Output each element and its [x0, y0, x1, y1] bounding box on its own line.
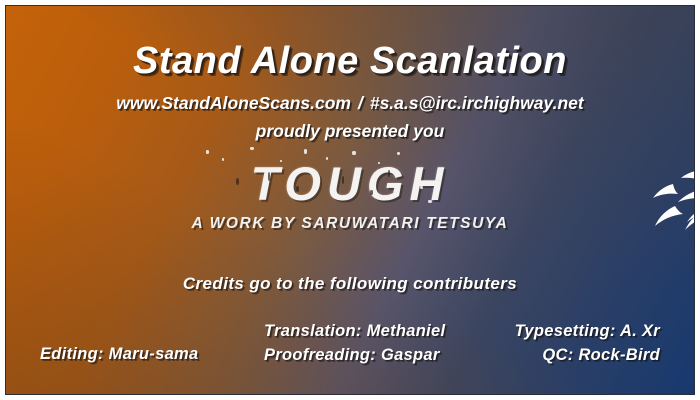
- headline-block: Stand Alone Scanlation www.StandAloneSca…: [6, 40, 694, 142]
- grunge-speck: [397, 152, 400, 155]
- group-contact-line: www.StandAloneScans.com/#s.a.s@irc.irchi…: [6, 93, 694, 114]
- grunge-speck: [250, 147, 254, 150]
- presented-by-line: proudly presented you: [6, 121, 694, 142]
- contact-separator: /: [351, 93, 370, 113]
- grunge-speck: [304, 149, 307, 154]
- tribal-wing-ornament: [647, 148, 695, 240]
- series-author: A WORK BY SARUWATARI TETSUYA: [192, 215, 509, 233]
- series-logo-row: TOUGH: [192, 156, 509, 233]
- grunge-speck: [352, 151, 356, 155]
- irc-channel: #s.a.s@irc.irchighway.net: [370, 93, 584, 113]
- credits-heading: Credits go to the following contributers: [6, 274, 694, 294]
- scanlation-credits-page: Stand Alone Scanlation www.StandAloneSca…: [0, 0, 700, 400]
- credit-proofreading: Proofreading: Gaspar: [264, 344, 445, 368]
- series-title: TOUGH: [251, 156, 450, 211]
- credits-column-translation: Translation: Methaniel Proofreading: Gas…: [264, 320, 445, 368]
- credits-columns: Editing: Maru-sama Translation: Methanie…: [6, 312, 694, 382]
- grunge-speck: [206, 150, 209, 154]
- page-content: Stand Alone Scanlation www.StandAloneSca…: [6, 6, 694, 394]
- credits-column-typesetting: Typesetting: A. Xr QC: Rock-Bird: [515, 320, 660, 368]
- grunge-speck: [236, 178, 239, 185]
- credit-editing: Editing: Maru-sama: [40, 343, 199, 367]
- credit-qc: QC: Rock-Bird: [515, 344, 660, 368]
- page-frame: Stand Alone Scanlation www.StandAloneSca…: [5, 5, 695, 395]
- credit-typesetting: Typesetting: A. Xr: [515, 320, 660, 344]
- credit-translation: Translation: Methaniel: [264, 320, 445, 344]
- group-title: Stand Alone Scanlation: [6, 40, 694, 83]
- website-url: www.StandAloneScans.com: [116, 93, 351, 113]
- grunge-speck: [222, 158, 224, 161]
- series-logo-block: TOUGH: [6, 156, 694, 233]
- credits-column-editing: Editing: Maru-sama: [40, 343, 199, 367]
